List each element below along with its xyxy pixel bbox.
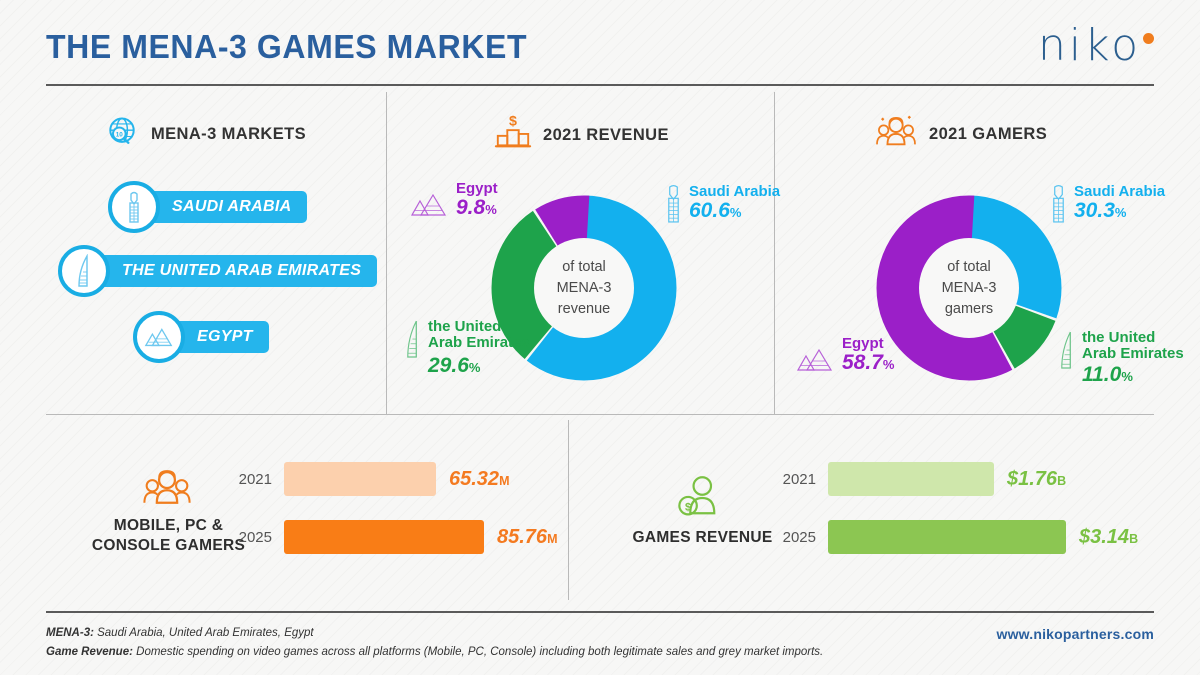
kingdom-tower-icon xyxy=(108,181,160,233)
revenue-legend-value-egypt: 9.8 xyxy=(456,196,485,219)
gamers-legend-value-uae: 11.0 xyxy=(1082,363,1121,386)
gamers-center-line-2: MENA-3 xyxy=(942,278,997,299)
gamers-center-line-3: gamers xyxy=(945,299,993,320)
gamers-bar-value-2025: 85.76 xyxy=(497,526,547,548)
market-label-egypt: EGYPT xyxy=(197,328,253,346)
revenue-bar-unit-2021: B xyxy=(1057,474,1066,488)
revenue-legend-unit-egypt: % xyxy=(485,202,497,217)
revenue-legend-value-saudi-arabia: 60.6 xyxy=(689,199,730,222)
kingdom-tower-icon xyxy=(665,184,682,229)
svg-text:$: $ xyxy=(685,502,691,514)
market-pill-bar-egypt: EGYPT xyxy=(173,321,269,353)
svg-text:$: $ xyxy=(509,113,517,129)
divider-vertical-right xyxy=(774,92,775,414)
logo-wordmark: niko xyxy=(1038,24,1141,68)
divider-vertical-left xyxy=(386,92,387,414)
gamers-legend-unit-egypt: % xyxy=(883,357,895,372)
gamers-legend-name-uae-2: Arab Emirates xyxy=(1082,346,1184,362)
header-divider xyxy=(46,84,1154,86)
revenue-donut-center: of total MENA-3 revenue xyxy=(534,238,634,338)
gamers-bar-unit-2025: M xyxy=(547,532,557,546)
gamers-group-icon xyxy=(141,465,193,516)
niko-logo: niko xyxy=(1038,24,1154,68)
footnote-mena3-label: MENA-3: xyxy=(46,627,94,639)
revenue-heading: $ 2021 REVENUE xyxy=(494,113,669,158)
gamers-bar-fill-2021 xyxy=(284,462,436,496)
gamers-bar-block: MOBILE, PC & CONSOLE GAMERS 2021 65.32M … xyxy=(46,420,566,600)
gamers-bar-row-2025[interactable]: 2025 85.76M xyxy=(226,520,557,554)
market-pill-egypt[interactable]: EGYPT xyxy=(133,311,269,363)
gamers-legend-uae: the United Arab Emirates 11.0% xyxy=(1058,330,1184,387)
footer-divider xyxy=(46,611,1154,613)
gamers-legend-value-egypt: 58.7 xyxy=(842,351,883,374)
gamers-bar-year-2021: 2021 xyxy=(226,471,272,488)
revenue-bar-year-2021: 2021 xyxy=(770,471,816,488)
revenue-legend-unit-uae: % xyxy=(469,360,481,375)
revenue-center-line-2: MENA-3 xyxy=(557,278,612,299)
revenue-legend-value-uae: 29.6 xyxy=(428,354,469,377)
infographic-canvas: THE MENA-3 GAMES MARKET niko 10 MENA-3 M… xyxy=(0,0,1200,675)
header: THE MENA-3 GAMES MARKET niko xyxy=(46,22,1154,84)
pyramids-icon xyxy=(409,191,449,224)
footnote-mena3: MENA-3: Saudi Arabia, United Arab Emirat… xyxy=(46,624,823,643)
page-title: THE MENA-3 GAMES MARKET xyxy=(46,28,527,66)
revenue-legend-name-saudi-arabia: Saudi Arabia xyxy=(689,184,780,200)
pyramids-icon xyxy=(133,311,185,363)
burj-al-arab-icon xyxy=(1058,330,1075,377)
revenue-bar-value-2021: $1.76 xyxy=(1007,468,1057,490)
market-label-saudi-arabia: SAUDI ARABIA xyxy=(172,198,291,216)
gamers-legend-saudi-arabia: Saudi Arabia 30.3% xyxy=(1050,184,1165,229)
revenue-center-line-3: revenue xyxy=(558,299,610,320)
money-person-icon: $ xyxy=(675,474,723,527)
market-pill-saudi-arabia[interactable]: SAUDI ARABIA xyxy=(108,181,307,233)
gamers-bar-value-2021: 65.32 xyxy=(449,468,499,490)
revenue-legend-name-uae-1: the United xyxy=(428,319,530,335)
revenue-bar-row-2025[interactable]: 2025 $3.14B xyxy=(770,520,1138,554)
kingdom-tower-icon xyxy=(1050,184,1067,229)
gamers-bar-row-2021[interactable]: 2021 65.32M xyxy=(226,462,509,496)
divider-horizontal-mid xyxy=(46,414,1154,415)
gamers-legend-egypt: Egypt 58.7% xyxy=(795,336,894,379)
gamers-heading: 2021 GAMERS xyxy=(874,113,1047,156)
podium-dollar-icon: $ xyxy=(494,113,532,158)
gamers-legend-unit-saudi-arabia: % xyxy=(1115,205,1127,220)
footnotes: MENA-3: Saudi Arabia, United Arab Emirat… xyxy=(46,624,823,662)
footnote-game-revenue-text: Domestic spending on video games across … xyxy=(133,646,823,658)
gamers-legend-name-egypt: Egypt xyxy=(842,336,894,352)
gamers-donut-chart: of total MENA-3 gamers xyxy=(873,192,1065,384)
revenue-bar-fill-2021 xyxy=(828,462,994,496)
revenue-legend-saudi-arabia: Saudi Arabia 60.6% xyxy=(665,184,780,229)
revenue-legend-name-egypt: Egypt xyxy=(456,181,498,197)
revenue-bar-value-2025: $3.14 xyxy=(1079,526,1129,548)
svg-text:10: 10 xyxy=(116,132,124,139)
revenue-legend-uae: the United Arab Emirates 29.6% xyxy=(404,319,530,378)
market-pill-uae[interactable]: THE UNITED ARAB EMIRATES xyxy=(58,245,377,297)
market-pill-bar-saudi-arabia: SAUDI ARABIA xyxy=(148,191,307,223)
gamers-legend-name-uae-1: the United xyxy=(1082,330,1184,346)
gamers-legend-name-saudi-arabia: Saudi Arabia xyxy=(1074,184,1165,200)
market-pill-bar-uae: THE UNITED ARAB EMIRATES xyxy=(98,255,377,287)
markets-heading-label: MENA-3 MARKETS xyxy=(151,125,306,144)
divider-vertical-bottom xyxy=(568,420,569,600)
revenue-legend-egypt: Egypt 9.8% xyxy=(409,181,498,224)
gamers-bar-fill-2025 xyxy=(284,520,484,554)
globe-search-icon: 10 xyxy=(104,114,140,155)
revenue-bar-fill-2025 xyxy=(828,520,1066,554)
revenue-bar-year-2025: 2025 xyxy=(770,529,816,546)
revenue-bar-block: $ GAMES REVENUE 2021 $1.76B 2025 $3.14B xyxy=(590,420,1154,600)
revenue-heading-label: 2021 REVENUE xyxy=(543,126,669,145)
burj-al-arab-icon xyxy=(58,245,110,297)
footnote-mena3-text: Saudi Arabia, United Arab Emirates, Egyp… xyxy=(94,627,314,639)
revenue-bar-unit-2025: B xyxy=(1129,532,1138,546)
gamers-bar-unit-2021: M xyxy=(499,474,509,488)
revenue-legend-name-uae-2: Arab Emirates xyxy=(428,335,530,351)
gamers-heading-label: 2021 GAMERS xyxy=(929,125,1047,144)
gamers-center-line-1: of total xyxy=(947,257,991,278)
revenue-bar-row-2021[interactable]: 2021 $1.76B xyxy=(770,462,1066,496)
gamers-group-icon xyxy=(874,113,918,156)
burj-al-arab-icon xyxy=(404,319,421,366)
footnote-game-revenue: Game Revenue: Domestic spending on video… xyxy=(46,643,823,662)
gamers-bar-year-2025: 2025 xyxy=(226,529,272,546)
revenue-center-line-1: of total xyxy=(562,257,606,278)
footnote-game-revenue-label: Game Revenue: xyxy=(46,646,133,658)
markets-heading: 10 MENA-3 MARKETS xyxy=(104,114,306,155)
pyramids-icon xyxy=(795,346,835,379)
website-link[interactable]: www.nikopartners.com xyxy=(996,626,1154,642)
gamers-donut-center: of total MENA-3 gamers xyxy=(919,238,1019,338)
revenue-legend-unit-saudi-arabia: % xyxy=(730,205,742,220)
gamers-legend-value-saudi-arabia: 30.3 xyxy=(1074,199,1115,222)
market-label-uae: THE UNITED ARAB EMIRATES xyxy=(122,262,361,280)
logo-dot-icon xyxy=(1143,33,1154,44)
gamers-legend-unit-uae: % xyxy=(1121,369,1133,384)
